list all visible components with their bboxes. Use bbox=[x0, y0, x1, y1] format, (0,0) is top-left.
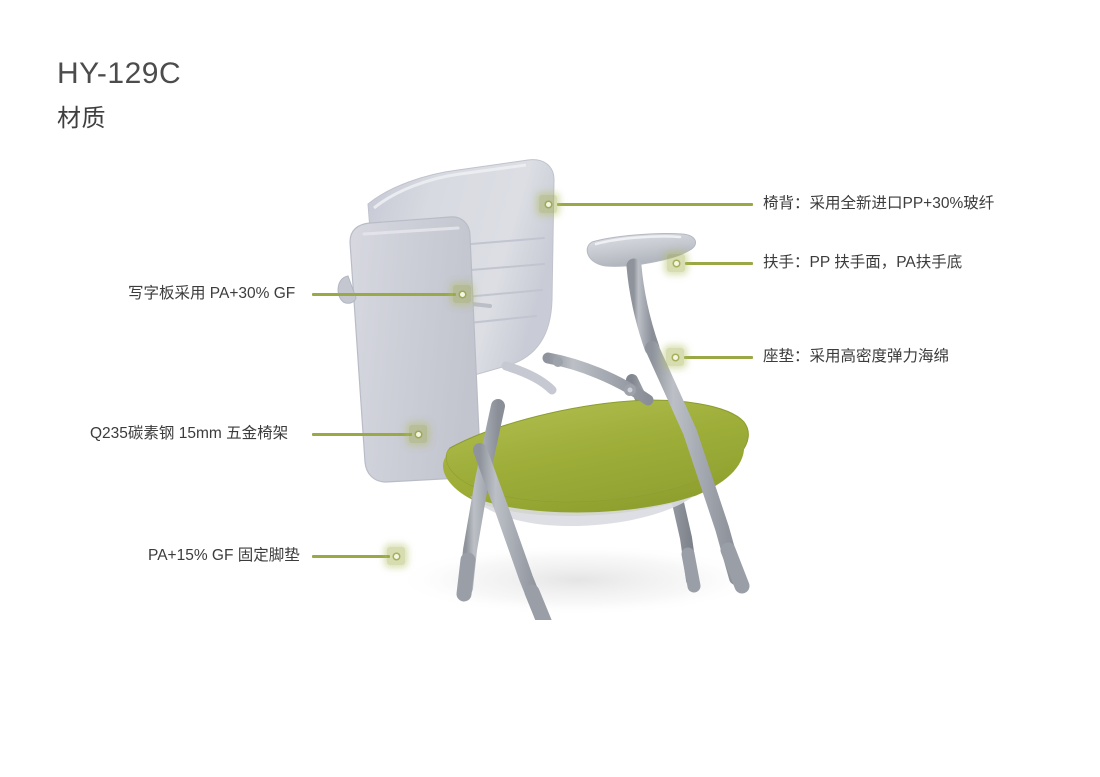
leader-line-foot-glide bbox=[312, 555, 390, 558]
page-title: HY-129C bbox=[57, 55, 477, 93]
callout-label-seat-cushion: 座垫：采用高密度弹力海绵 bbox=[763, 347, 949, 367]
callout-label-armrest: 扶手：PP 扶手面，PA扶手底 bbox=[763, 253, 962, 273]
frame-hinge-rear bbox=[553, 357, 563, 367]
frame-hinge-pin bbox=[628, 388, 633, 393]
callout-marker-writing-tablet[interactable] bbox=[453, 285, 471, 303]
section-subtitle: 材质 bbox=[57, 103, 477, 135]
callout-label-writing-tablet: 写字板采用 PA+30% GF bbox=[128, 284, 295, 304]
callout-marker-steel-frame[interactable] bbox=[409, 425, 427, 443]
callout-marker-backrest[interactable] bbox=[539, 195, 557, 213]
callout-marker-armrest[interactable] bbox=[667, 254, 685, 272]
leader-line-backrest bbox=[557, 203, 753, 206]
floor-shadow bbox=[393, 544, 763, 616]
foot-cap-rear-left bbox=[464, 560, 468, 594]
foot-cap-rear-right bbox=[688, 554, 694, 586]
callout-label-foot-glide: PA+15% GF 固定脚垫 bbox=[148, 546, 300, 566]
armrest-post bbox=[634, 266, 652, 348]
page-heading: HY-129C 材质 bbox=[57, 55, 477, 135]
leader-line-steel-frame bbox=[312, 433, 412, 436]
callout-label-backrest: 椅背：采用全新进口PP+30%玻纤 bbox=[763, 194, 994, 214]
back-seat-connector bbox=[506, 366, 552, 390]
leader-line-seat-cushion bbox=[684, 356, 753, 359]
leader-line-armrest bbox=[685, 262, 753, 265]
product-spec-page: HY-129C 材质 bbox=[0, 0, 1100, 777]
callout-label-steel-frame: Q235碳素钢 15mm 五金椅架 bbox=[90, 424, 288, 444]
callout-marker-seat-cushion[interactable] bbox=[666, 348, 684, 366]
callout-marker-foot-glide[interactable] bbox=[387, 547, 405, 565]
leader-line-writing-tablet bbox=[312, 293, 456, 296]
